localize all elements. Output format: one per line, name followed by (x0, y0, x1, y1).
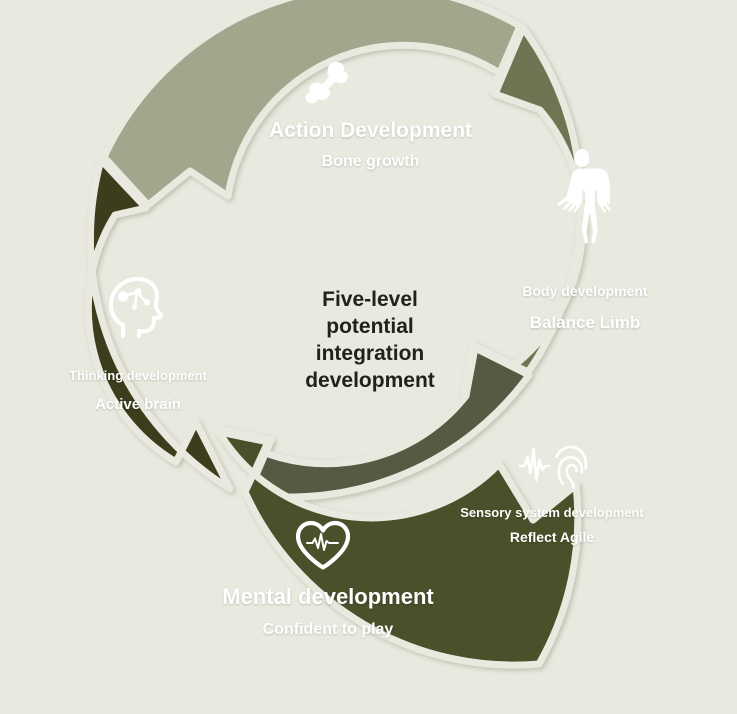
segment-thinking-shape[interactable] (88, 160, 230, 489)
segment-action-shape[interactable] (104, 0, 537, 205)
diagram-canvas: Action Development Bone growth Body deve… (0, 0, 737, 714)
segment-body-shape[interactable] (464, 28, 582, 393)
cycle-ring-svg (0, 0, 737, 714)
